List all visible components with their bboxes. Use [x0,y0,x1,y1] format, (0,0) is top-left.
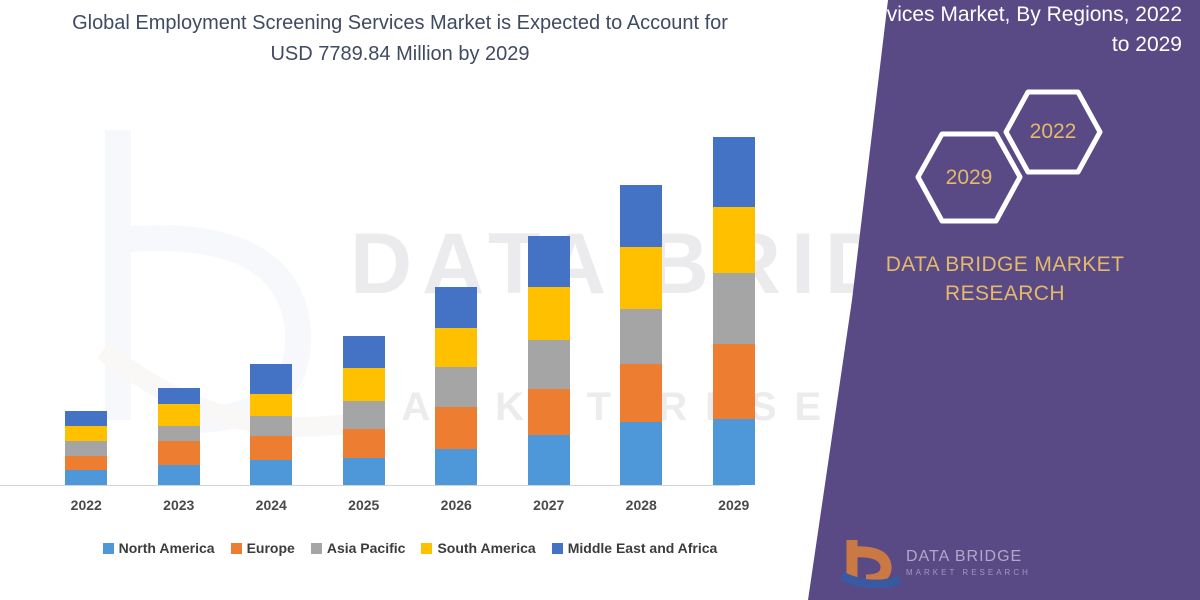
x-axis-label-2028: 2028 [595,497,688,513]
brand-line-2: RESEARCH [840,279,1170,308]
bar-segment [250,364,292,394]
legend-swatch-icon [231,543,242,554]
legend-swatch-icon [552,543,563,554]
x-axis-line [0,485,740,486]
chart-plot-area [40,120,780,485]
legend-swatch-icon [311,543,322,554]
legend-item[interactable]: Middle East and Africa [552,540,718,556]
bar-segment [528,389,570,435]
hexagon-label-2022: 2022 [1030,120,1077,144]
bar-segment [343,429,385,458]
brand-panel: Global Employment Screening Services Mar… [800,0,1200,600]
bar-column-2029 [688,120,781,485]
bar-segment [65,426,107,441]
bar-column-2026 [410,120,503,485]
legend-label: Asia Pacific [327,540,406,556]
legend-item[interactable]: Asia Pacific [311,540,406,556]
bar-segment [250,416,292,436]
x-axis-label-2027: 2027 [503,497,596,513]
x-axis-label-2022: 2022 [40,497,133,513]
bar-segment [528,435,570,485]
footer-brand-label: DATA BRIDGE [906,548,1022,566]
legend-label: North America [119,540,215,556]
bar-segment [343,368,385,401]
bar-segment [713,273,755,344]
bar-segment [435,328,477,367]
bar-segment [158,388,200,404]
bar-column-2022 [40,120,133,485]
hexagon-badges: 2029 2022 [905,88,1105,223]
panel-title: Global Employment Screening Services Mar… [852,0,1182,60]
bridge-logo-icon [840,536,902,588]
bar-segment [713,137,755,207]
bar-segment [620,309,662,364]
chart-legend: North AmericaEuropeAsia PacificSouth Ame… [40,540,780,556]
stacked-bar [435,287,477,485]
bar-segment [65,411,107,426]
bar-segment [620,422,662,485]
x-axis-label-2024: 2024 [225,497,318,513]
bar-segment [620,364,662,422]
x-axis-label-2029: 2029 [688,497,781,513]
x-axis-label-2023: 2023 [133,497,226,513]
bar-column-2028 [595,120,688,485]
bar-segment [158,426,200,441]
bar-segment [250,460,292,485]
infographic-page: DATA BRIDGE MARKET RESEARCH Global Emplo… [0,0,1200,600]
legend-swatch-icon [103,543,114,554]
bar-segment [528,287,570,340]
x-axis-labels: 20222023202420252026202720282029 [40,497,780,513]
stacked-bar [65,411,107,485]
bar-segment [65,441,107,456]
legend-item[interactable]: Europe [231,540,295,556]
legend-swatch-icon [421,543,432,554]
bar-segment [435,407,477,449]
legend-item[interactable]: North America [103,540,215,556]
footer-logo: DATA BRIDGE MARKET RESEARCH [840,536,1090,594]
bar-segment [435,367,477,407]
brand-line-1: DATA BRIDGE MARKET [840,250,1170,279]
legend-item[interactable]: South America [421,540,535,556]
bar-segment [65,470,107,485]
bar-segment [528,340,570,389]
stacked-bar [528,236,570,485]
bar-segment [435,449,477,485]
bar-column-2023 [133,120,226,485]
bar-segment [620,185,662,247]
stacked-bar-group [40,120,780,485]
bar-column-2024 [225,120,318,485]
stacked-bar [343,336,385,485]
x-axis-label-2025: 2025 [318,497,411,513]
stacked-bar [620,185,662,485]
bar-segment [713,207,755,273]
stacked-bar [713,137,755,485]
hexagon-label-2029: 2029 [946,166,993,190]
chart-title: Global Employment Screening Services Mar… [50,8,750,70]
legend-label: Middle East and Africa [568,540,718,556]
bar-segment [343,401,385,429]
bar-segment [250,394,292,416]
bar-segment [343,458,385,485]
bar-segment [528,236,570,287]
x-axis-label-2026: 2026 [410,497,503,513]
brand-name: DATA BRIDGE MARKET RESEARCH [840,250,1170,308]
legend-label: South America [437,540,535,556]
bar-segment [713,419,755,485]
stacked-bar [250,364,292,485]
bar-segment [435,287,477,328]
footer-brand-sub: MARKET RESEARCH [906,568,1031,577]
bar-column-2025 [318,120,411,485]
bar-segment [158,465,200,485]
bar-segment [713,344,755,419]
bar-segment [620,247,662,309]
bar-segment [65,456,107,470]
stacked-bar [158,388,200,485]
bar-segment [250,436,292,460]
bar-column-2027 [503,120,596,485]
bar-segment [343,336,385,368]
hexagon-badge-2022: 2022 [1003,88,1103,176]
bar-segment [158,441,200,465]
bar-segment [158,404,200,426]
legend-label: Europe [247,540,295,556]
